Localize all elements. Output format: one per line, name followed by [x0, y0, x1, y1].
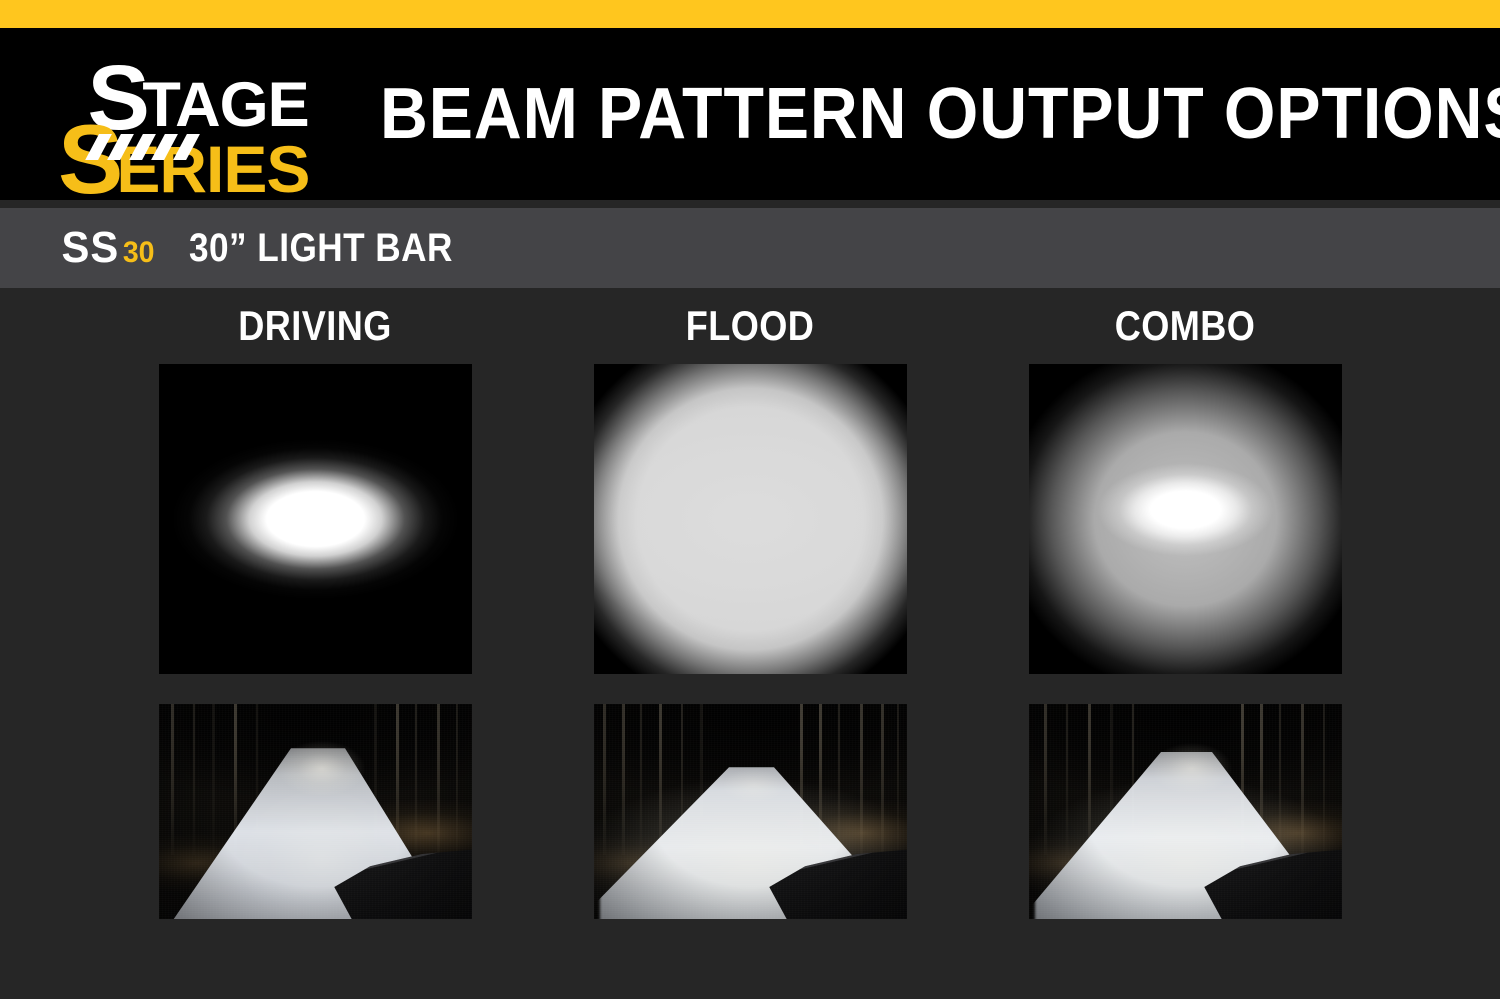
- product-subbar: SS 30 30” LIGHT BAR: [0, 208, 1500, 288]
- ss-badge-size: 30: [123, 238, 155, 268]
- beam-glow-hotspot: [159, 364, 472, 674]
- photo-grain: [159, 704, 472, 919]
- beam-glow-spread: [594, 364, 907, 674]
- beam-pattern-driving: [159, 364, 472, 674]
- comparison-grid: DRIVING: [0, 288, 1500, 999]
- top-accent-bar: [0, 0, 1500, 28]
- header-band: S ERIES S TAGE BEAM PATTERN OUTPUT OPTIO…: [0, 28, 1500, 200]
- beam-photo-flood: [594, 704, 907, 919]
- beam-photo-combo: [1029, 704, 1342, 919]
- column-header-driving: DRIVING: [177, 288, 452, 364]
- infographic-page: S ERIES S TAGE BEAM PATTERN OUTPUT OPTIO…: [0, 0, 1500, 999]
- column-driving: DRIVING: [155, 288, 475, 919]
- beam-pattern-flood: [594, 364, 907, 674]
- logo-speed-stripes-icon: [85, 134, 209, 160]
- column-header-flood: FLOOD: [612, 288, 887, 364]
- photo-grain: [1029, 704, 1342, 919]
- page-title: BEAM PATTERN OUTPUT OPTIONS: [380, 73, 1500, 155]
- beam-glow-hotspot: [1029, 364, 1342, 674]
- column-header-combo: COMBO: [1047, 288, 1322, 364]
- beam-photo-driving: [159, 704, 472, 919]
- stage-series-logo: S ERIES S TAGE: [58, 44, 358, 184]
- ss30-badge: SS 30: [60, 226, 155, 270]
- column-combo: COMBO: [1025, 288, 1345, 919]
- column-flood: FLOOD: [590, 288, 910, 919]
- product-label: 30” LIGHT BAR: [189, 226, 453, 271]
- beam-pattern-combo: [1029, 364, 1342, 674]
- photo-grain: [594, 704, 907, 919]
- ss-badge-main: SS: [62, 226, 120, 270]
